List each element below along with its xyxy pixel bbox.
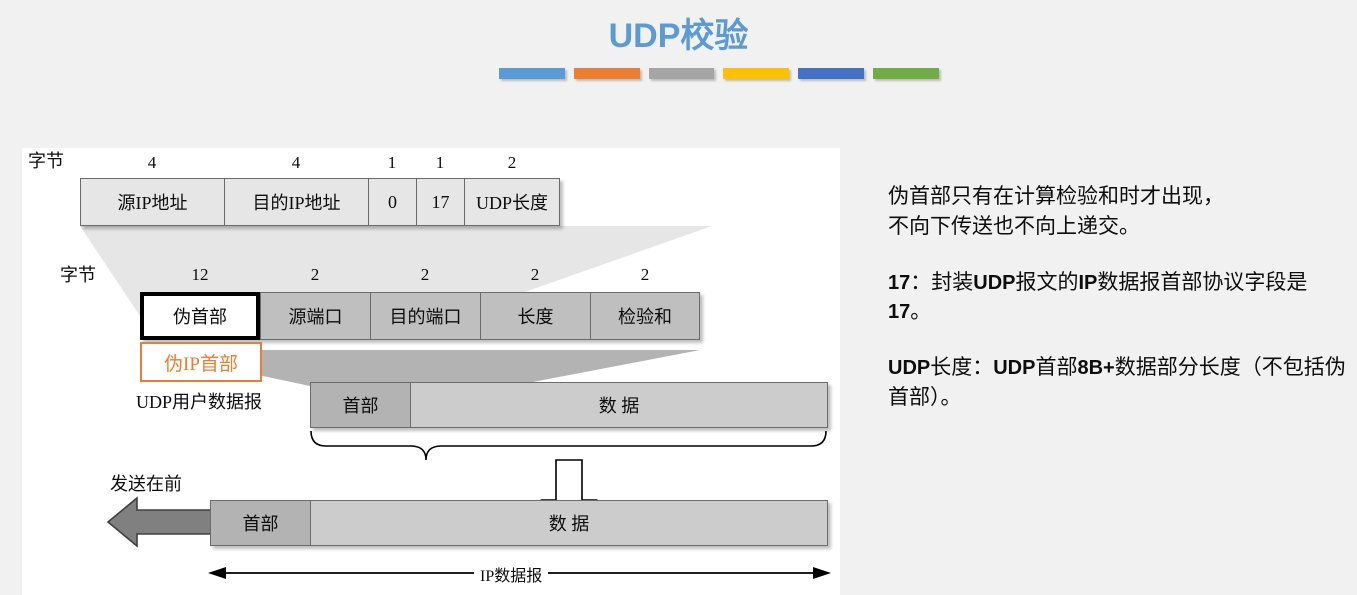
note-17-seg-0: 17	[888, 272, 910, 294]
note-pseudo-header: 伪首部只有在计算检验和时才出现， 不向下传送也不向上递交。	[888, 182, 1350, 242]
page-title: UDP校验	[0, 8, 1357, 57]
ip-datagram-span-label: IP数据报	[474, 562, 548, 586]
note-17-seg-1: ：封装	[910, 270, 973, 294]
note-len-seg-3: 首部	[1035, 355, 1077, 379]
span-arrowhead-left	[208, 567, 226, 579]
note-pseudo-header-line-1: 伪首部只有在计算检验和时才出现，	[888, 184, 1224, 208]
color-bar-orange	[574, 68, 640, 79]
color-bar-blue	[499, 68, 565, 79]
field-pseudo-header: 伪首部	[140, 292, 260, 340]
note-17-seg-5: 数据报首部协议字段是	[1097, 270, 1307, 294]
note-len-seg-2: UDP	[993, 357, 1035, 379]
slide-canvas: UDP校验 字节 4 4 1 1 2 源IP地址 目的IP地址 0 17 UDP…	[0, 0, 1357, 595]
notes-panel: 伪首部只有在计算检验和时才出现， 不向下传送也不向上递交。 17：封装UDP报文…	[888, 182, 1350, 439]
decorative-color-bar-row	[499, 68, 939, 80]
note-17-seg-7: 。	[910, 299, 931, 323]
note-17-seg-6: 17	[888, 301, 910, 323]
udp-datagram-label: UDP用户数据报	[136, 388, 262, 414]
note-len-seg-0: UDP	[888, 357, 930, 379]
note-udp-length: UDP长度：UDP首部8B+数据部分长度（不包括伪首部）。	[888, 353, 1350, 413]
color-bar-green	[873, 68, 939, 79]
note-protocol-17: 17：封装UDP报文的IP数据报首部协议字段是17。	[888, 268, 1350, 328]
diagram-panel: 字节 4 4 1 1 2 源IP地址 目的IP地址 0 17 UDP长度 字节 …	[22, 148, 840, 595]
note-len-seg-1: 长度：	[930, 355, 993, 379]
note-pseudo-header-line-2: 不向下传送也不向上递交。	[888, 214, 1140, 238]
note-17-seg-3: 报文的	[1015, 270, 1078, 294]
span-arrowhead-right	[813, 567, 831, 579]
pseudo-ip-header-callout: 伪IP首部	[140, 342, 262, 382]
note-17-seg-4: IP	[1078, 272, 1097, 294]
color-bar-dark-blue	[798, 68, 864, 79]
note-17-seg-2: UDP	[973, 272, 1015, 294]
color-bar-gray	[649, 68, 715, 79]
note-len-seg-4: 8B+	[1077, 357, 1114, 379]
color-bar-yellow	[723, 68, 789, 79]
